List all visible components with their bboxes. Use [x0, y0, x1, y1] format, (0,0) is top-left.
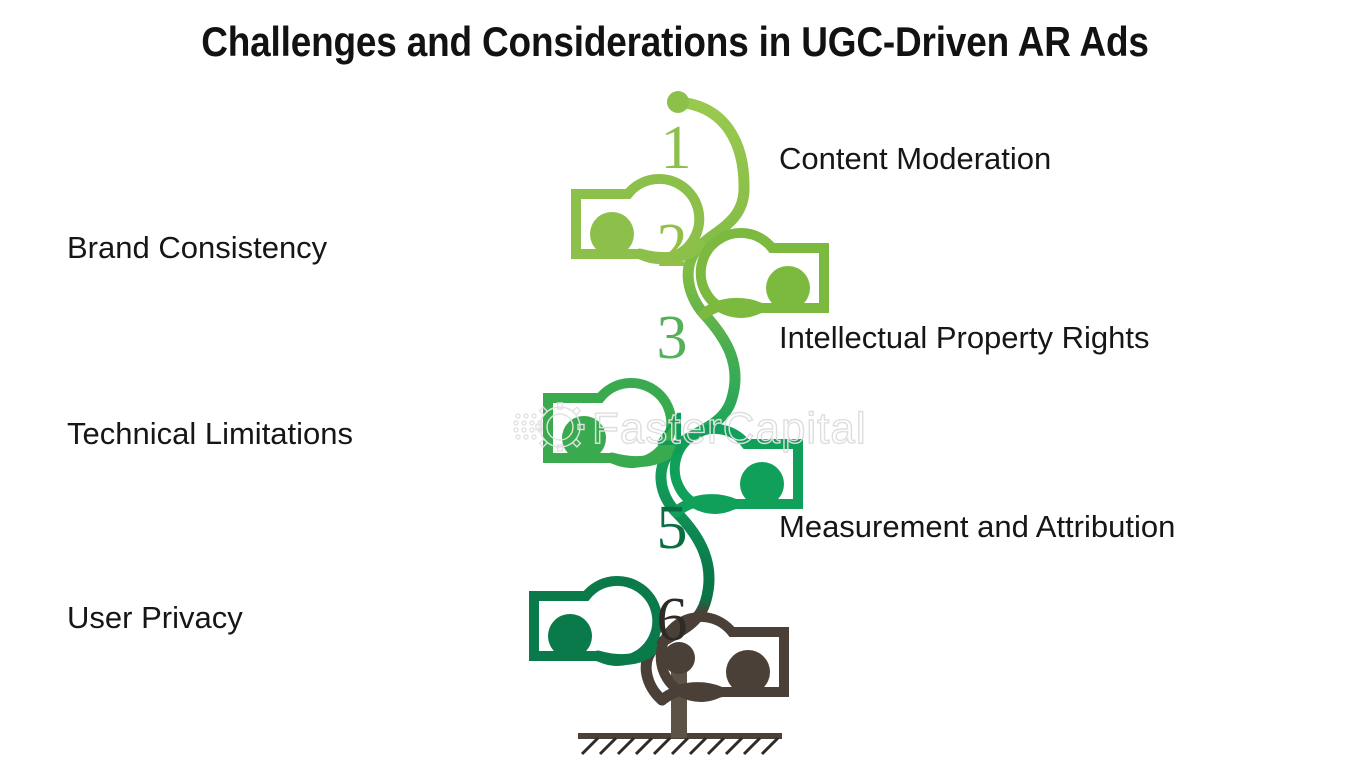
step-number-2: 2 [657, 212, 688, 280]
step-number-5: 5 [657, 494, 688, 562]
vine-diagram: 1 2 3 4 5 6 [520, 86, 920, 756]
leaf-node-4 [548, 383, 671, 463]
step-label-technical-limitations: Technical Limitations [67, 418, 353, 449]
step-label-content-moderation: Content Moderation [779, 143, 1051, 174]
step-number-6: 6 [657, 586, 688, 654]
leaf-node-3 [675, 429, 798, 509]
step-label-brand-consistency: Brand Consistency [67, 232, 327, 263]
leaf-node-1 [701, 233, 824, 313]
step-number-3: 3 [657, 304, 688, 372]
step-label-user-privacy: User Privacy [67, 602, 243, 633]
step-label-intellectual-property-rights: Intellectual Property Rights [779, 322, 1149, 353]
ground-hatching [582, 738, 778, 754]
step-number-4: 4 [657, 400, 688, 468]
stem-top-node [667, 91, 689, 113]
step-label-measurement-and-attribution: Measurement and Attribution [779, 511, 1175, 542]
infographic-canvas: Challenges and Considerations in UGC-Dri… [0, 0, 1350, 759]
step-number-1: 1 [661, 114, 692, 182]
page-title: Challenges and Considerations in UGC-Dri… [81, 18, 1269, 66]
leaf-node-6 [534, 581, 657, 661]
